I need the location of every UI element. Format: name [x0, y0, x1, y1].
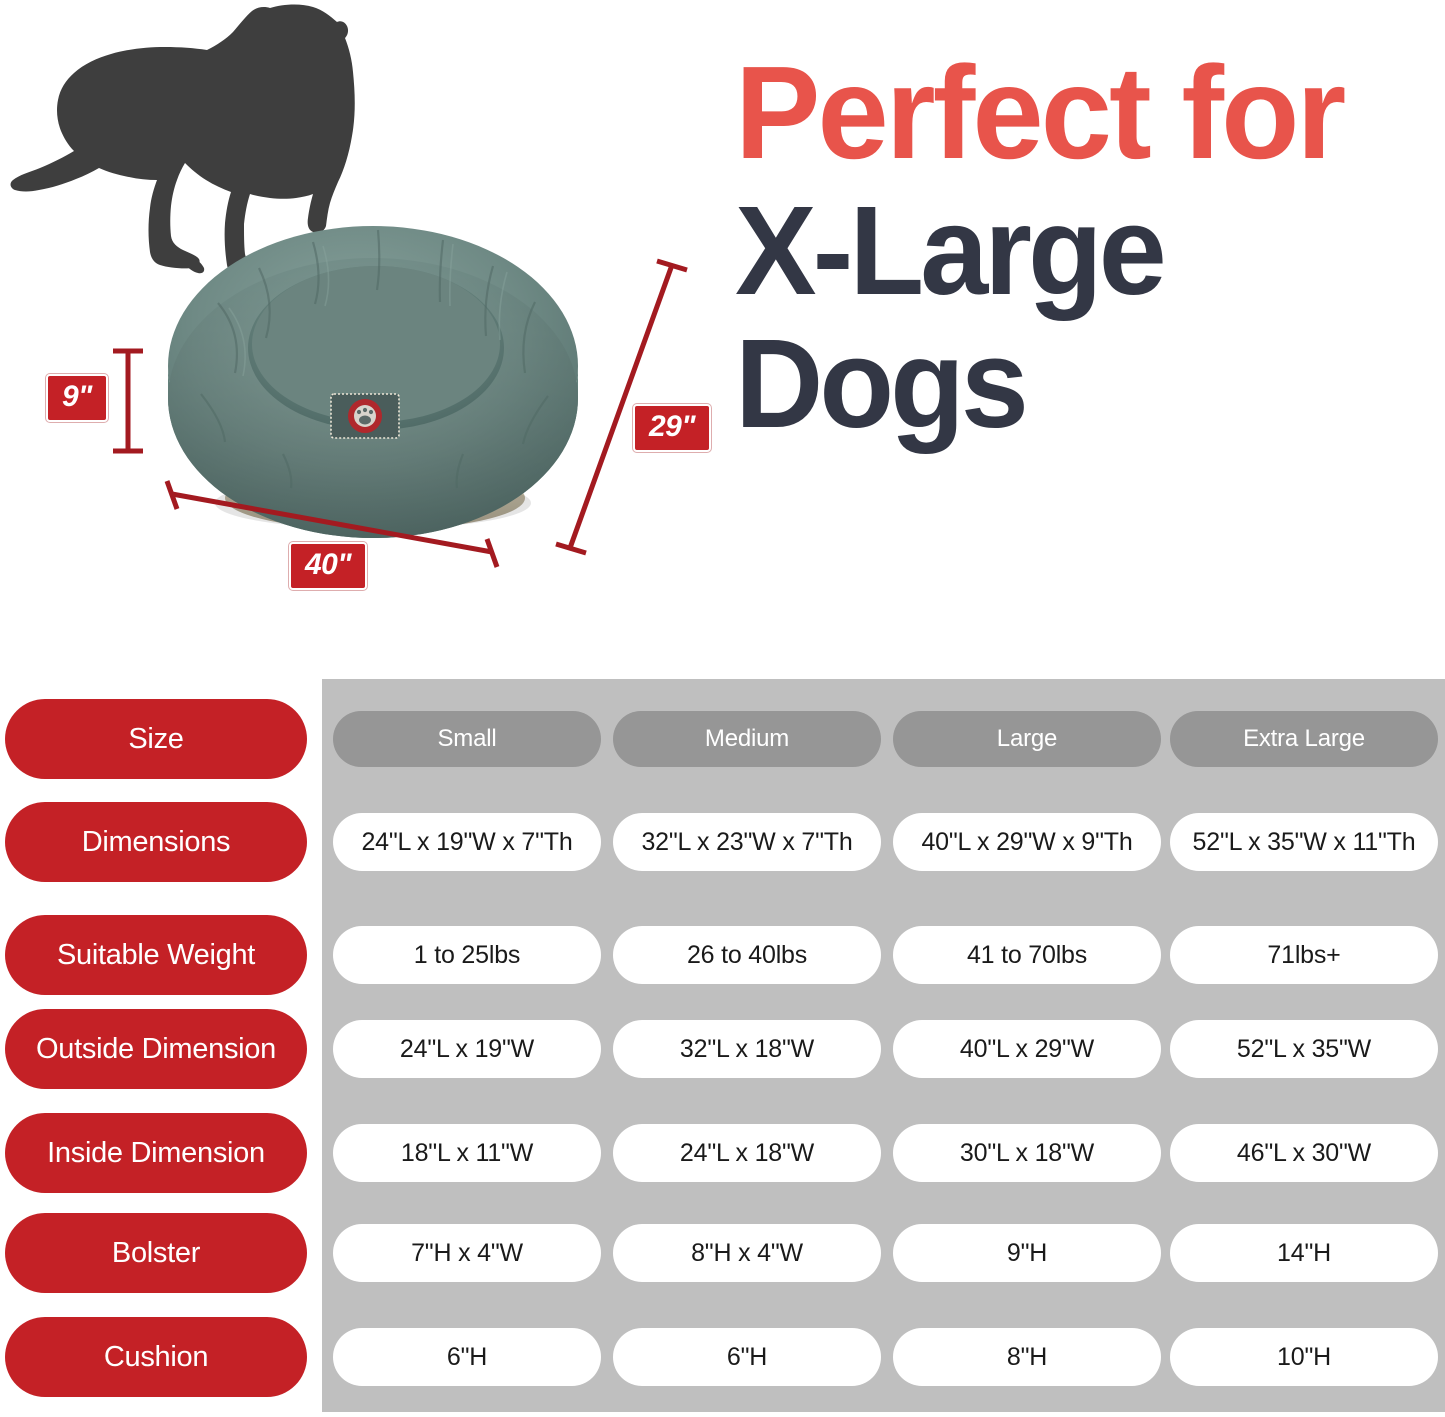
- spec-column-header: Small: [333, 711, 601, 767]
- spec-row-label: Cushion: [5, 1317, 307, 1397]
- spec-cell: 40"L x 29"W x 9"Th: [893, 813, 1161, 871]
- spec-cell: 7"H x 4"W: [333, 1224, 601, 1282]
- spec-column-header: Large: [893, 711, 1161, 767]
- spec-cell: 52"L x 35"W x 11"Th: [1170, 813, 1438, 871]
- spec-cell: 18"L x 11"W: [333, 1124, 601, 1182]
- dog-bed-product-photo: [163, 198, 583, 543]
- spec-row-label: Suitable Weight: [5, 915, 307, 995]
- spec-cell: 1 to 25lbs: [333, 926, 601, 984]
- headline-line-2: X-Large: [735, 187, 1414, 316]
- spec-cell: 14"H: [1170, 1224, 1438, 1282]
- spec-cell: 71lbs+: [1170, 926, 1438, 984]
- headline-line-3: Dogs: [735, 321, 1414, 447]
- spec-cell: 26 to 40lbs: [613, 926, 881, 984]
- spec-row-label: Outside Dimension: [5, 1009, 307, 1089]
- spec-cell: 30"L x 18"W: [893, 1124, 1161, 1182]
- headline-line-1: Perfect for: [735, 52, 1414, 175]
- spec-row-label: Dimensions: [5, 802, 307, 882]
- height-callout-badge: 9": [46, 374, 108, 422]
- spec-cell: 24"L x 19"W x 7"Th: [333, 813, 601, 871]
- spec-column-header: Extra Large: [1170, 711, 1438, 767]
- spec-cell: 24"L x 19"W: [333, 1020, 601, 1078]
- spec-column-header: Medium: [613, 711, 881, 767]
- spec-cell: 32"L x 23"W x 7"Th: [613, 813, 881, 871]
- spec-row-label-column: SizeDimensionsSuitable WeightOutside Dim…: [5, 679, 307, 1412]
- spec-cell: 41 to 70lbs: [893, 926, 1161, 984]
- spec-row-label: Size: [5, 699, 307, 779]
- spec-cell: 6"H: [613, 1328, 881, 1386]
- product-infographic: Perfect for X-Large Dogs 9" 40" 29" Smal…: [0, 0, 1445, 1417]
- spec-cell: 46"L x 30"W: [1170, 1124, 1438, 1182]
- hero-section: Perfect for X-Large Dogs 9" 40" 29": [0, 0, 1445, 679]
- length-callout-badge: 40": [289, 542, 367, 590]
- spec-cell: 10"H: [1170, 1328, 1438, 1386]
- spec-cell: 52"L x 35"W: [1170, 1020, 1438, 1078]
- spec-row-label: Inside Dimension: [5, 1113, 307, 1193]
- spec-row-label: Bolster: [5, 1213, 307, 1293]
- brand-tag: [331, 394, 399, 438]
- spec-cell: 8"H x 4"W: [613, 1224, 881, 1282]
- spec-cell: 6"H: [333, 1328, 601, 1386]
- width-callout-badge: 29": [633, 404, 711, 452]
- spec-table-panel: SmallMediumLargeExtra Large24"L x 19"W x…: [322, 679, 1445, 1412]
- spec-cell: 32"L x 18"W: [613, 1020, 881, 1078]
- spec-cell: 40"L x 29"W: [893, 1020, 1161, 1078]
- spec-cell: 24"L x 18"W: [613, 1124, 881, 1182]
- spec-cell: 8"H: [893, 1328, 1161, 1386]
- headline-block: Perfect for X-Large Dogs: [735, 52, 1435, 447]
- spec-cell: 9"H: [893, 1224, 1161, 1282]
